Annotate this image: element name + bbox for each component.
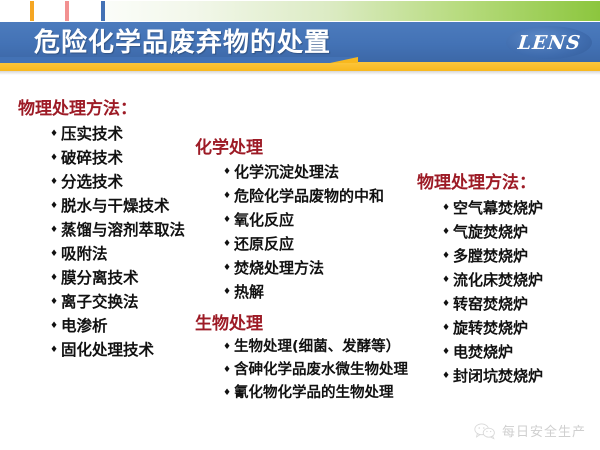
orange-tick-mark (30, 1, 34, 21)
list-physical-left: 压实技术 破碎技术 分选技术 脱水与干燥技术 蒸馏与溶剂萃取法 吸附法 膜分离技… (50, 122, 218, 362)
column-heading-chemical: 化学处理 (195, 133, 420, 158)
column-chemical-treatment: 化学处理 化学沉淀处理法 危险化学品废物的中和 氧化反应 还原反应 焚烧处理方法… (195, 133, 420, 304)
yellow-diagonal-wedge (330, 57, 358, 63)
list-item: 封闭坑焚烧炉 (442, 364, 600, 388)
watermark-text: 每日安全生产 (502, 421, 586, 440)
blue-tick-mark (101, 1, 105, 21)
green-gradient-bar (105, 1, 600, 21)
yellow-accent-band (0, 62, 600, 71)
slide-content: 物理处理方法： 压实技术 破碎技术 分选技术 脱水与干燥技术 蒸馏与溶剂萃取法 … (0, 71, 600, 450)
lens-logo: LENS (506, 26, 592, 59)
list-item: 空气幕焚烧炉 (442, 196, 600, 220)
list-chemical: 化学沉淀处理法 危险化学品废物的中和 氧化反应 还原反应 焚烧处理方法 热解 (223, 160, 420, 304)
column-physical-methods-left: 物理处理方法： 压实技术 破碎技术 分选技术 脱水与干燥技术 蒸馏与溶剂萃取法 … (18, 94, 218, 362)
list-item: 热解 (223, 280, 420, 304)
lens-logo-text: LENS (516, 32, 581, 54)
list-item: 旋转焚烧炉 (442, 316, 600, 340)
list-item: 压实技术 (50, 122, 218, 146)
list-item: 破碎技术 (50, 146, 218, 170)
list-item: 吸附法 (50, 242, 218, 266)
blue-notch (0, 57, 352, 63)
list-item: 含砷化学品废水微生物处理 (223, 359, 427, 382)
list-item: 固化处理技术 (50, 338, 218, 362)
list-item: 生物处理(细菌、发酵等） (223, 336, 427, 359)
pink-tick-mark (65, 1, 69, 21)
list-item: 离子交换法 (50, 290, 218, 314)
wechat-icon (474, 422, 496, 440)
list-item: 转窑焚烧炉 (442, 292, 600, 316)
list-item: 多膛焚烧炉 (442, 244, 600, 268)
list-physical-right: 空气幕焚烧炉 气旋焚烧炉 多膛焚烧炉 流化床焚烧炉 转窑焚烧炉 旋转焚烧炉 电焚… (442, 196, 600, 388)
column-biological-treatment: 生物处理 生物处理(细菌、发酵等） 含砷化学品废水微生物处理 氰化物化学品的生物… (195, 309, 427, 405)
page-title: 危险化学品废弃物的处置 (34, 26, 331, 60)
column-heading-physical-right: 物理处理方法： (417, 168, 600, 193)
list-item: 电焚烧炉 (442, 340, 600, 364)
list-item: 氰化物化学品的生物处理 (223, 382, 427, 405)
list-item: 氧化反应 (223, 208, 420, 232)
watermark: 每日安全生产 (474, 421, 586, 440)
list-biological: 生物处理(细菌、发酵等） 含砷化学品废水微生物处理 氰化物化学品的生物处理 (223, 336, 427, 405)
list-item: 还原反应 (223, 232, 420, 256)
list-item: 焚烧处理方法 (223, 256, 420, 280)
list-item: 膜分离技术 (50, 266, 218, 290)
list-item: 蒸馏与溶剂萃取法 (50, 218, 218, 242)
list-item: 气旋焚烧炉 (442, 220, 600, 244)
list-item: 电渗析 (50, 314, 218, 338)
list-item: 化学沉淀处理法 (223, 160, 420, 184)
column-heading-physical-left: 物理处理方法： (18, 94, 218, 119)
list-item: 脱水与干燥技术 (50, 194, 218, 218)
list-item: 危险化学品废物的中和 (223, 184, 420, 208)
list-item: 流化床焚烧炉 (442, 268, 600, 292)
column-physical-methods-right: 物理处理方法： 空气幕焚烧炉 气旋焚烧炉 多膛焚烧炉 流化床焚烧炉 转窑焚烧炉 … (417, 168, 600, 388)
list-item: 分选技术 (50, 170, 218, 194)
top-decorative-strip (0, 0, 600, 22)
column-heading-biological: 生物处理 (195, 309, 427, 334)
